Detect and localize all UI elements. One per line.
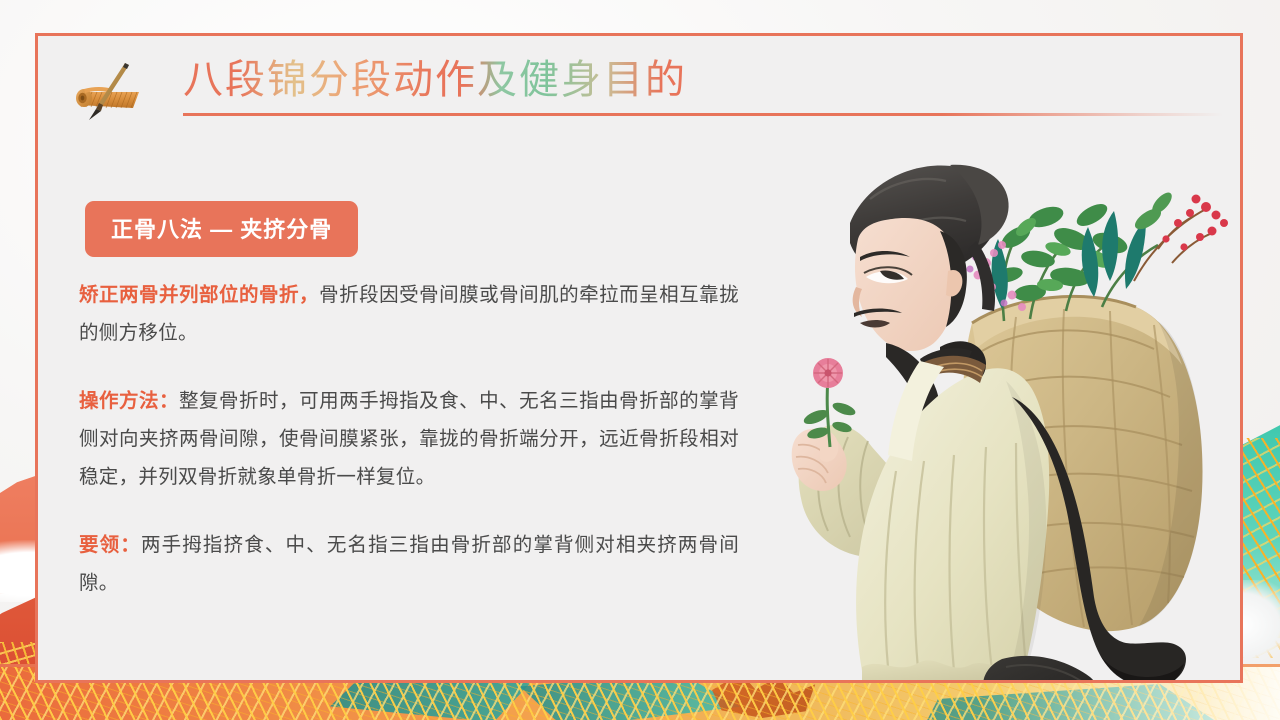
section-badge: 正骨八法 — 夹挤分骨 [85,201,358,257]
robe-body [856,341,1049,681]
slide-canvas: 八段锦分段动作及健身目的 正骨八法 — 夹挤分骨 矫正两骨并列部位的骨折，骨折段… [0,0,1280,720]
page-title: 八段锦分段动作及健身目的 [183,58,687,102]
paragraph-3-text: 两手拇指挤食、中、无名指三指由骨折部的掌背侧对相夹挤两骨间隙。 [79,534,739,594]
herb-gatherer-illustration [754,111,1234,681]
paragraph-3-lead: 要领： [79,534,141,556]
paragraph-1-lead: 矫正两骨并列部位的骨折， [79,284,319,306]
body-text-column: 矫正两骨并列部位的骨折，骨折段因受骨间膜或骨间肌的牵拉而呈相互靠拢的侧方移位。 … [79,276,739,602]
bamboo-scroll-brush-icon [65,61,150,121]
content-card: 八段锦分段动作及健身目的 正骨八法 — 夹挤分骨 矫正两骨并列部位的骨折，骨折段… [35,33,1243,683]
paragraph-2-lead: 操作方法： [79,390,179,412]
paragraph-2: 操作方法：整复骨折时，可用两手拇指及食、中、无名三指由骨折部的掌背侧对向夹挤两骨… [79,382,739,496]
paragraph-1: 矫正两骨并列部位的骨折，骨折段因受骨间膜或骨间肌的牵拉而呈相互靠拢的侧方移位。 [79,276,739,352]
paragraph-3: 要领：两手拇指挤食、中、无名指三指由骨折部的掌背侧对相夹挤两骨间隙。 [79,526,739,602]
